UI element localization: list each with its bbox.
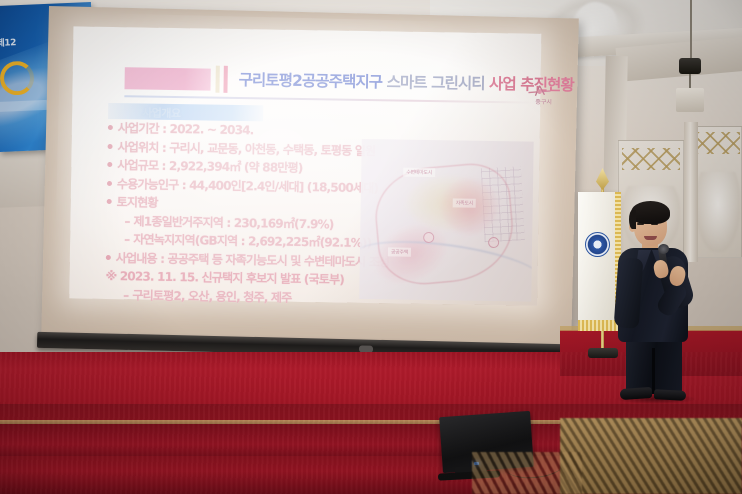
presenter-shoe-left [620,387,653,400]
presenter-hair [631,201,670,224]
bullet-text: 사업위치 : 구리시, 교문동, 아천동, 수택동, 토평동 일원 [117,140,375,158]
speaker-with-microphone [600,198,706,398]
bullet-text: 자연녹지지역(GB지역 : 2,692,225㎡(92.1%)) [133,232,371,250]
speaker-rod [690,0,692,60]
presenter-leg-split [652,348,655,394]
map-label: 공공주택 [388,247,411,256]
bullet-text: 사업내용 : 공공주택 등 자족기능도시 및 수변테마도시 조성 [116,251,390,269]
bullet-dot-icon [107,162,112,167]
bullet-text: 사업규모 : 2,922,394㎡ (약 88만평) [117,158,302,175]
svg-text:중구시: 중구시 [535,99,552,106]
slide-title-part-blue: 구리토평2공공주택지구 [239,71,383,91]
title-bar-pink [223,66,227,93]
bullet-dash-icon: – [124,232,129,246]
projected-slide: 구리토평2공공주택지구 스마트 그린시티 사업 추진현황 중구시 사업개요 사업… [69,26,541,305]
banner-top-text: 제12 [0,35,16,49]
bullet-dot-icon [108,125,113,130]
title-accent-bars [215,66,233,93]
audience-seating-secondary [472,452,582,494]
bullet-dash-icon: – [123,288,128,302]
title-pink-block [124,67,210,90]
bullet-dash-icon: – [124,214,129,228]
bullet-text: 사업기간 : 2022. ~ 2034. [118,121,254,137]
city-emblem-icon: 중구시 [524,84,554,106]
bullet-dot-icon [106,254,111,259]
site-plan-map: 수변테마도시 자족도시 공공주택 [359,139,533,302]
bullet-text: 수용가능인구 : 44,400인[2.4인/세대] (18,500세대) [117,177,378,195]
bullet-dot-icon [107,199,112,204]
hanging-speaker [679,58,701,74]
presenter-hair-side [629,210,636,229]
bullet-text: 제1종일반거주지역 : 230,169㎡(7.9%) [134,214,334,231]
lattice-ornament-right [696,132,740,154]
projection-screen-assembly: 구리토평2공공주택지구 스마트 그린시티 사업 추진현황 중구시 사업개요 사업… [41,6,579,366]
presenter-mouth [644,236,657,240]
map-label: 자족도시 [453,198,476,207]
title-bar-cream [215,66,219,93]
bullet-text: 토지현황 [117,195,158,210]
slide-title: 구리토평2공공주택지구 스마트 그린시티 사업 추진현황 [238,67,538,98]
presenter-shoe-right [654,389,686,401]
lattice-ornament-left [622,148,680,170]
bullet-note-text: ※ 2023. 11. 15. 신규택지 후보지 발표 (국토부) [105,269,344,287]
presentation-hall-photo: 제12 2 구리토평2공공주택지구 스마트 그린시티 사업 추진현황 [0,0,742,494]
audience-seating [560,418,742,494]
projection-screen-surface: 구리토평2공공주택지구 스마트 그린시티 사업 추진현황 중구시 사업개요 사업… [41,6,579,350]
bullet-dot-icon [108,143,113,148]
bullet-text: 구리토평2, 오산, 용인, 청주, 제주 [132,288,291,304]
bullet-dot-icon [107,180,112,185]
map-label: 수변테마도시 [403,168,435,177]
ceiling-fixture [676,88,704,112]
slide-title-part-gray: 스마트 그린시티 [382,73,485,93]
presenter-arm-left [614,257,644,329]
